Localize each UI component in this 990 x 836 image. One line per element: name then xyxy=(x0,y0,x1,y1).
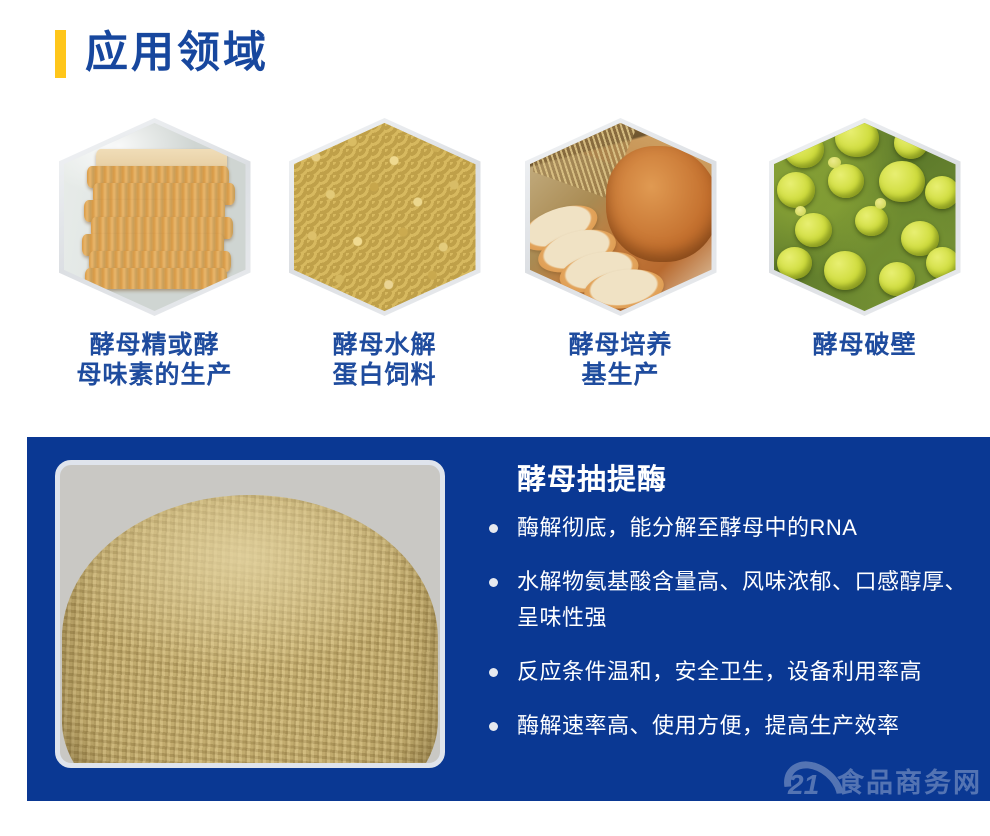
yeast-cell xyxy=(795,213,831,247)
yeast-bud xyxy=(828,157,841,168)
bullet-dot-icon xyxy=(489,668,498,677)
yellow-feed-granules-photo xyxy=(294,123,476,311)
yeast-cell xyxy=(879,161,925,202)
bread-loaf xyxy=(606,146,712,263)
bullet-dot-icon xyxy=(489,524,498,533)
stacked-biscuits-photo xyxy=(64,123,246,311)
application-card-caption: 酵母水解 蛋白饲料 xyxy=(272,330,497,390)
product-panel: 酵母抽提酶 酶解彻底，能分解至酵母中的RNA 水解物氨基酸含量高、风味浓郁、口感… xyxy=(27,437,990,801)
yeast-cell xyxy=(855,206,888,236)
yeast-cell xyxy=(777,172,815,208)
yeast-extract-powder-photo xyxy=(55,460,445,768)
yeast-cell xyxy=(784,131,824,169)
product-feature-item: 酶解彻底，能分解至酵母中的RNA xyxy=(479,510,979,546)
hexagon-image-clip xyxy=(774,123,956,311)
application-card-yeast-extract-production[interactable]: 酵母精或酵 母味素的生产 xyxy=(42,118,267,390)
product-title: 酵母抽提酶 xyxy=(517,460,979,500)
application-card-caption: 酵母精或酵 母味素的生产 xyxy=(42,330,267,390)
hexagon-image-clip xyxy=(530,123,712,311)
yeast-cell xyxy=(879,262,915,296)
product-feature-item: 反应条件温和，安全卫生，设备利用率高 xyxy=(479,654,979,690)
yeast-cell xyxy=(828,164,864,198)
application-card-culture-medium-production[interactable]: 酵母培养 基生产 xyxy=(508,118,733,390)
application-card-caption: 酵母破壁 xyxy=(752,330,977,360)
yeast-bud xyxy=(875,198,886,208)
yeast-cell-micrograph-photo xyxy=(774,123,956,311)
site-watermark: 21 食品商务网 xyxy=(781,759,982,807)
yeast-cell xyxy=(824,251,866,290)
watermark-badge-number: 21 xyxy=(788,771,819,799)
powder-heap xyxy=(62,495,438,768)
yeast-cell xyxy=(835,123,879,157)
hexagon-frame xyxy=(59,118,251,316)
product-feature-item: 水解物氨基酸含量高、风味浓郁、口感醇厚、呈味性强 xyxy=(479,564,979,636)
hexagon-frame xyxy=(769,118,961,316)
biscuit-layer xyxy=(85,268,227,290)
watermark-site-name: 食品商务网 xyxy=(837,766,982,800)
product-feature-text: 水解物氨基酸含量高、风味浓郁、口感醇厚、呈味性强 xyxy=(517,569,967,630)
product-feature-text: 酶解速率高、使用方便，提高生产效率 xyxy=(517,713,900,738)
hexagon-image-clip xyxy=(64,123,246,311)
product-panel-content: 酵母抽提酶 酶解彻底，能分解至酵母中的RNA 水解物氨基酸含量高、风味浓郁、口感… xyxy=(479,460,979,762)
product-feature-list: 酶解彻底，能分解至酵母中的RNA 水解物氨基酸含量高、风味浓郁、口感醇厚、呈味性… xyxy=(479,510,979,744)
application-card-caption: 酵母培养 基生产 xyxy=(508,330,733,390)
application-card-cell-wall-breaking[interactable]: 酵母破壁 xyxy=(752,118,977,360)
hexagon-image-clip xyxy=(294,123,476,311)
yeast-cell xyxy=(926,247,955,279)
product-feature-item: 酶解速率高、使用方便，提高生产效率 xyxy=(479,708,979,744)
page-title: 应用领域 xyxy=(85,22,269,84)
application-cards-row: 酵母精或酵 母味素的生产 酵母水解 蛋白饲料 酵母培养 基生产 xyxy=(0,118,990,418)
product-feature-text: 反应条件温和，安全卫生，设备利用率高 xyxy=(517,659,922,684)
yeast-cell xyxy=(777,247,812,279)
header-accent-bar xyxy=(55,30,66,78)
yeast-cell xyxy=(925,176,956,210)
bread-and-wheat-photo xyxy=(530,123,712,311)
application-card-hydrolyzed-protein-feed[interactable]: 酵母水解 蛋白饲料 xyxy=(272,118,497,390)
bullet-dot-icon xyxy=(489,578,498,587)
product-feature-text: 酶解彻底，能分解至酵母中的RNA xyxy=(517,515,857,540)
hexagon-frame xyxy=(525,118,717,316)
hexagon-frame xyxy=(289,118,481,316)
watermark-badge-icon: 21 xyxy=(781,761,833,805)
page-header: 应用领域 xyxy=(0,0,990,110)
yeast-cell xyxy=(894,127,929,159)
bullet-dot-icon xyxy=(489,722,498,731)
